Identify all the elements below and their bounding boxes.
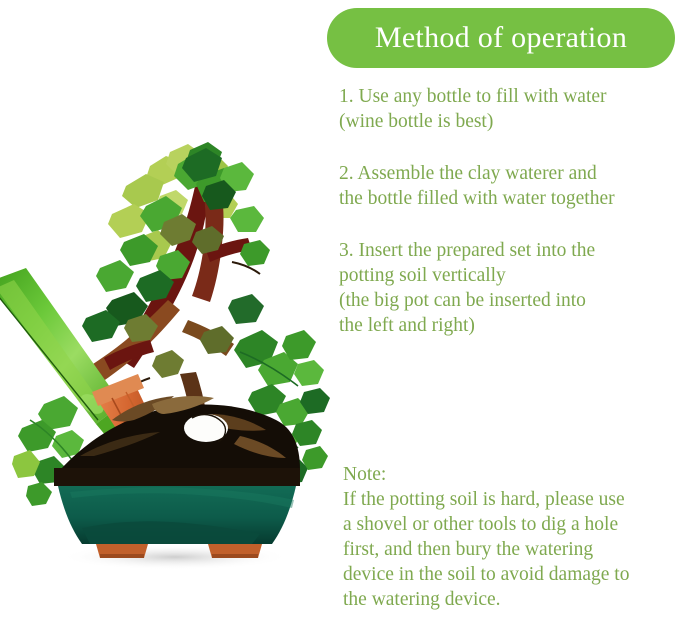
title-pill: Method of operation [327,8,675,68]
steps-list: 1. Use any bottle to fill with water (wi… [339,84,679,338]
product-instruction-graphic: Method of operation 1. Use any bottle to… [0,0,679,619]
page-title: Method of operation [375,23,627,53]
step-item-1: 1. Use any bottle to fill with water (wi… [339,84,679,134]
note-block: Note: If the potting soil is hard, pleas… [343,462,679,612]
step-item-2: 2. Assemble the clay waterer and the bot… [339,161,679,211]
bonsai-illustration [0,0,340,619]
note-body: If the potting soil is hard, please use … [343,487,679,612]
step-item-3: 3. Insert the prepared set into the pott… [339,238,679,338]
instructions-panel: Method of operation 1. Use any bottle to… [327,0,679,619]
note-label: Note: [343,462,679,487]
